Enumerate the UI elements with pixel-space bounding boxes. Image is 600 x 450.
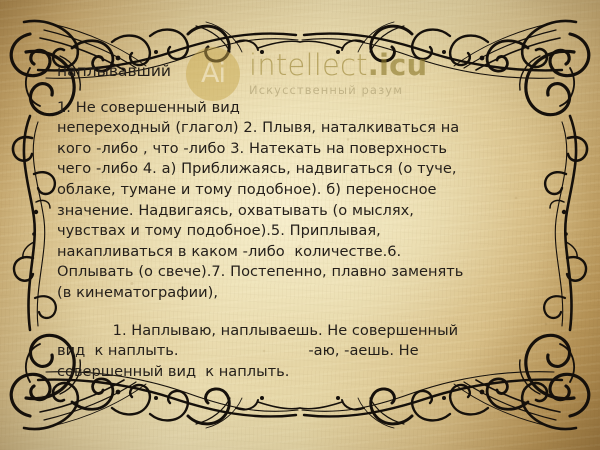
definition-text: 1. Не совершенный вид непереходный (глаг… bbox=[57, 98, 543, 304]
parchment-dictionary-page: Ai intellect.icu Искусственный разум нап… bbox=[0, 0, 600, 450]
entry-content: наплывавший 1. Не совершенный вид непере… bbox=[57, 62, 543, 382]
conjugation-text: 1. Наплываю, наплываешь. Не совершенный … bbox=[57, 321, 543, 383]
page-title: наплывавший bbox=[57, 62, 543, 81]
